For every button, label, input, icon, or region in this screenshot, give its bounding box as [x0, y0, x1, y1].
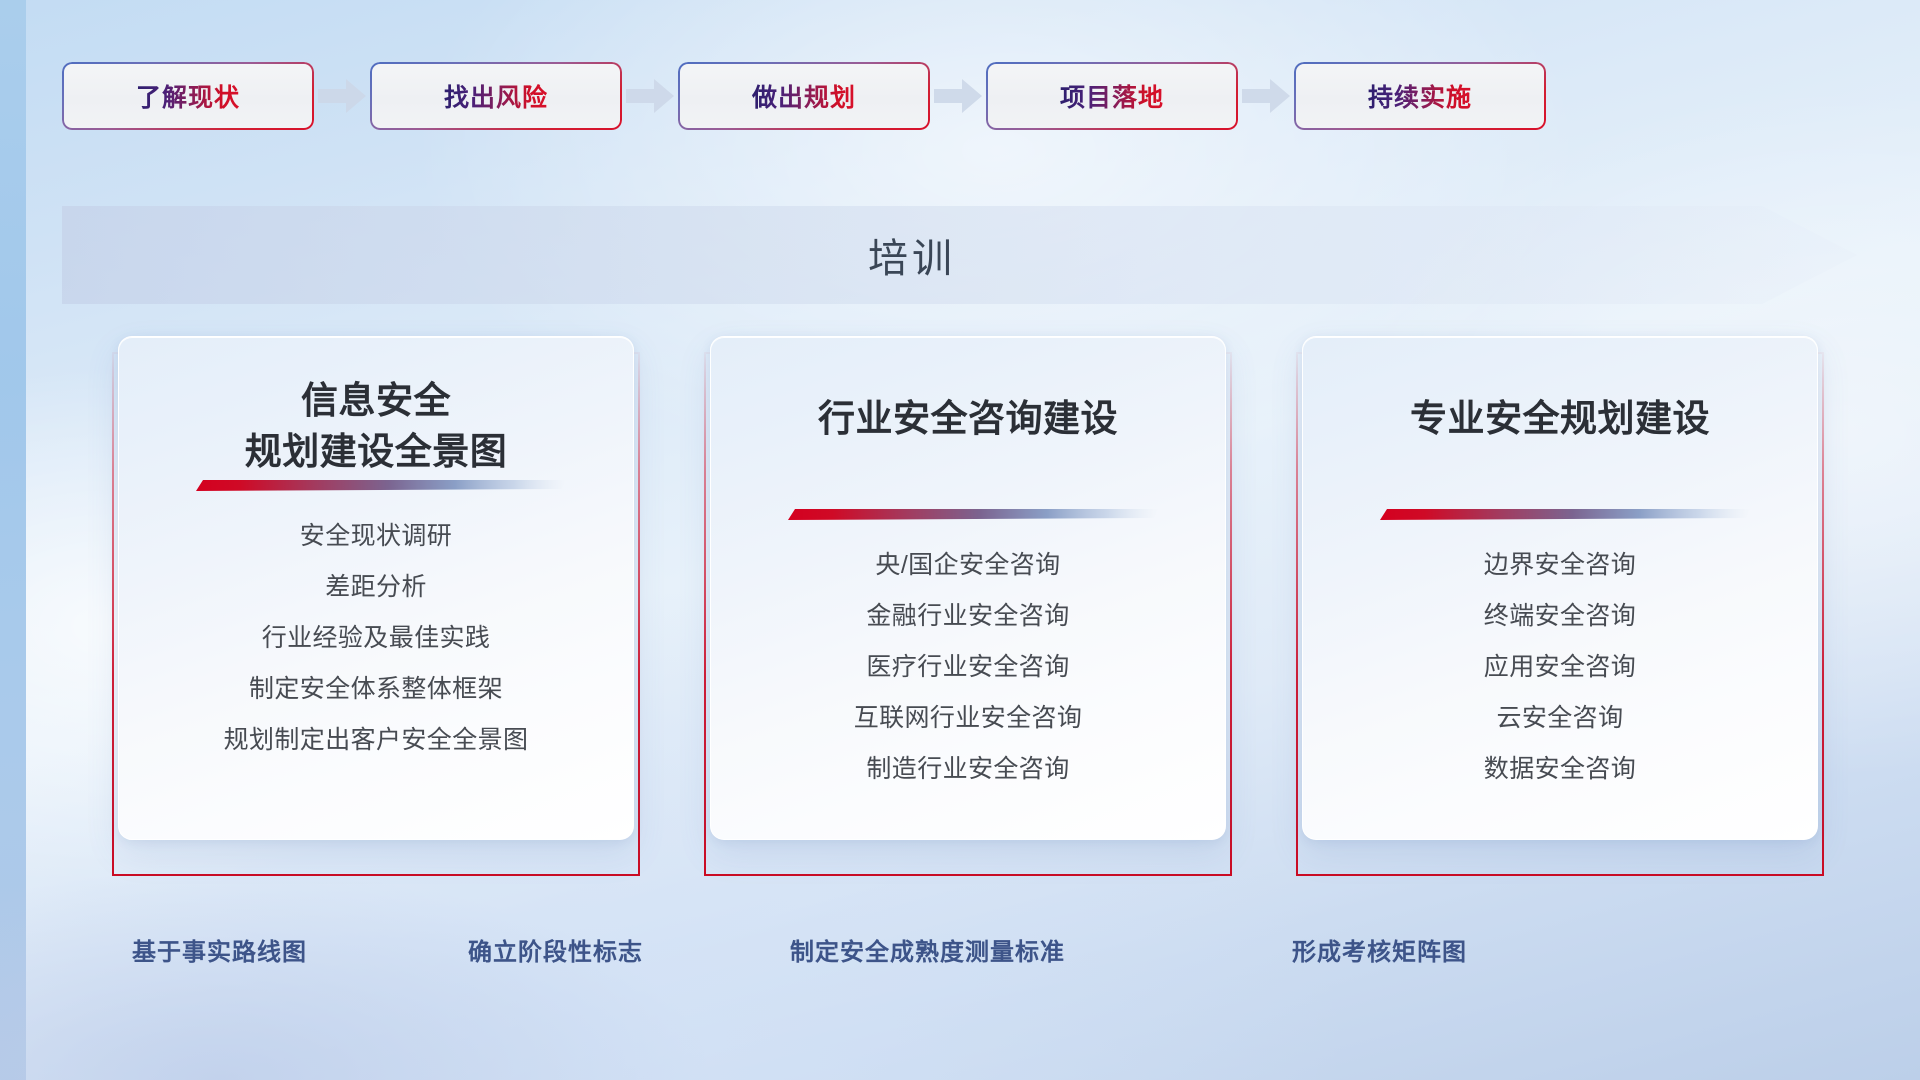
- training-banner: 培训: [62, 206, 1857, 304]
- list-item: 数据安全咨询: [1484, 749, 1636, 785]
- list-item: 互联网行业安全咨询: [854, 698, 1083, 734]
- list-item: 安全现状调研: [300, 516, 452, 552]
- step-chip-4[interactable]: 项目落地: [986, 62, 1238, 130]
- list-item: 边界安全咨询: [1484, 545, 1636, 581]
- list-item: 医疗行业安全咨询: [866, 647, 1069, 683]
- card-title: 专业安全规划建设: [1410, 393, 1710, 444]
- step-chip-label: 了解现状: [136, 78, 240, 114]
- caption-4: 形成考核矩阵图: [1292, 932, 1467, 967]
- card-title: 行业安全咨询建设: [818, 393, 1118, 444]
- card-2[interactable]: 行业安全咨询建设: [704, 336, 1232, 876]
- list-item: 云安全咨询: [1496, 698, 1623, 734]
- card-item-list: 安全现状调研 差距分析 行业经验及最佳实践 制定安全体系整体框架 规划制定出客户…: [145, 516, 607, 756]
- card-body: 行业安全咨询建设: [710, 336, 1226, 840]
- list-item: 终端安全咨询: [1484, 596, 1636, 632]
- arrow-right-icon: [622, 76, 678, 116]
- step-chip-5[interactable]: 持续实施: [1294, 62, 1546, 130]
- list-item: 规划制定出客户安全全景图: [224, 720, 529, 756]
- gradient-divider-icon: [186, 477, 566, 494]
- card-title-line: 规划建设全景图: [245, 426, 508, 477]
- list-item: 应用安全咨询: [1484, 647, 1636, 683]
- list-item: 行业经验及最佳实践: [262, 618, 491, 654]
- card-body: 专业安全规划建设: [1302, 336, 1818, 840]
- card-1[interactable]: 信息安全 规划建设全景图: [112, 336, 640, 876]
- card-row: 信息安全 规划建设全景图: [0, 336, 1920, 876]
- card-title-line: 信息安全: [245, 375, 508, 426]
- process-step-row: 了解现状 找出风险 做出规划 项目落地: [0, 62, 1920, 130]
- caption-row: 基于事实路线图 确立阶段性标志 制定安全成熟度测量标准 形成考核矩阵图: [0, 932, 1920, 972]
- step-chip-label: 找出风险: [444, 78, 548, 114]
- caption-1: 基于事实路线图: [132, 932, 307, 967]
- slide-canvas: 了解现状 找出风险 做出规划 项目落地: [0, 0, 1920, 1080]
- card-body: 信息安全 规划建设全景图: [118, 336, 634, 840]
- list-item: 制造行业安全咨询: [866, 749, 1069, 785]
- arrow-right-icon: [1238, 76, 1294, 116]
- list-item: 金融行业安全咨询: [866, 596, 1069, 632]
- card-title-line: 专业安全规划建设: [1410, 393, 1710, 444]
- card-title: 信息安全 规划建设全景图: [245, 375, 508, 477]
- card-3[interactable]: 专业安全规划建设: [1296, 336, 1824, 876]
- step-chip-2[interactable]: 找出风险: [370, 62, 622, 130]
- list-item: 央/国企安全咨询: [875, 545, 1060, 581]
- arrow-right-icon: [930, 76, 986, 116]
- arrow-right-icon: [314, 76, 370, 116]
- step-chip-1[interactable]: 了解现状: [62, 62, 314, 130]
- card-item-list: 央/国企安全咨询 金融行业安全咨询 医疗行业安全咨询 互联网行业安全咨询 制造行…: [737, 545, 1199, 785]
- step-chip-label: 持续实施: [1368, 78, 1472, 114]
- step-chip-label: 做出规划: [752, 78, 856, 114]
- card-item-list: 边界安全咨询 终端安全咨询 应用安全咨询 云安全咨询 数据安全咨询: [1329, 545, 1791, 785]
- caption-3: 制定安全成熟度测量标准: [790, 932, 1065, 967]
- gradient-divider-icon: [778, 506, 1158, 523]
- card-title-line: 行业安全咨询建设: [818, 393, 1118, 444]
- caption-2: 确立阶段性标志: [468, 932, 643, 967]
- step-chip-label: 项目落地: [1060, 78, 1164, 114]
- banner-label: 培训: [62, 206, 1762, 304]
- gradient-divider-icon: [1370, 506, 1750, 523]
- list-item: 制定安全体系整体框架: [249, 669, 503, 705]
- step-chip-3[interactable]: 做出规划: [678, 62, 930, 130]
- list-item: 差距分析: [325, 567, 427, 603]
